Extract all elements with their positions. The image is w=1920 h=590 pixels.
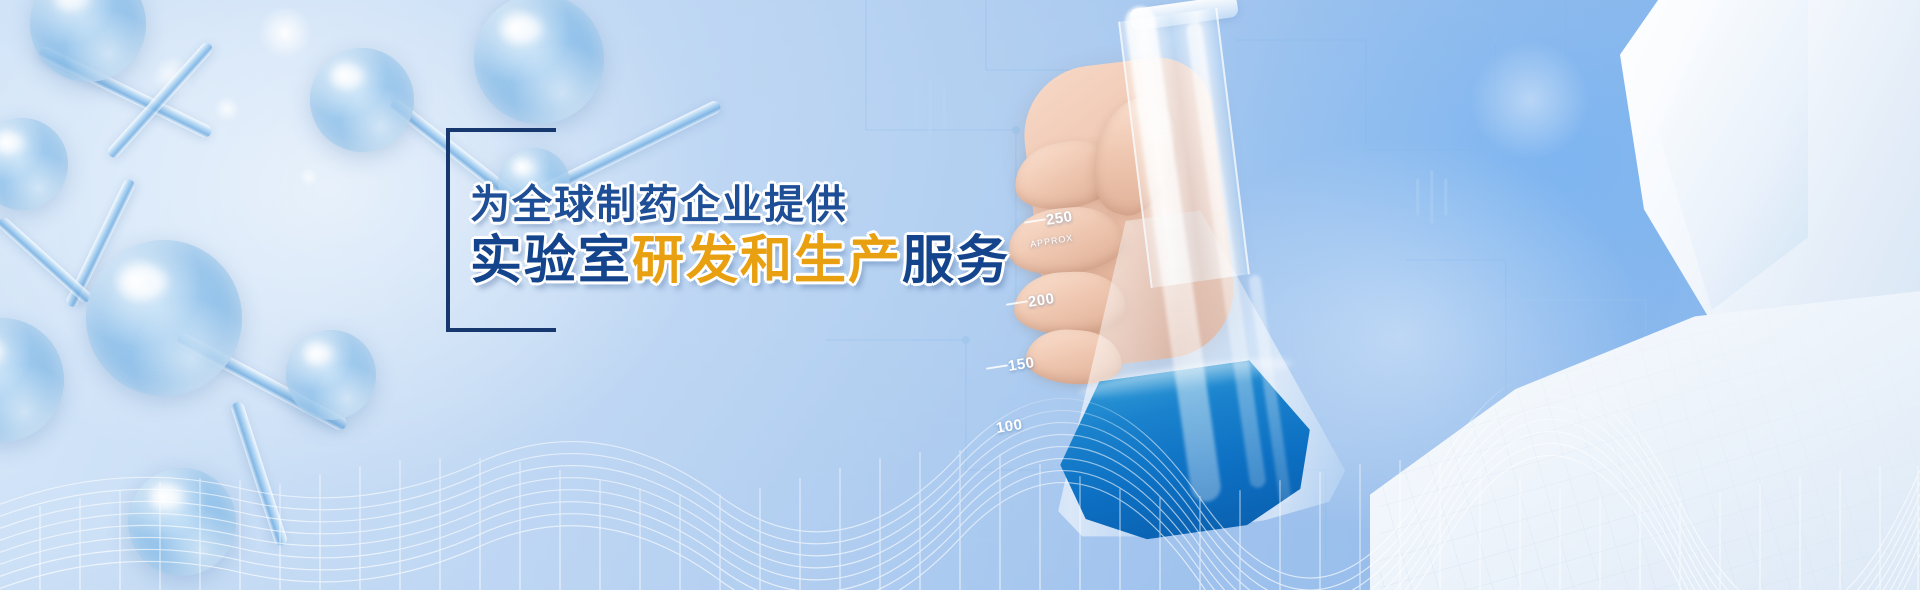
- flask-graduation-tick: [986, 364, 1008, 369]
- flask-graduation-250: 250: [1044, 208, 1073, 229]
- hero-banner: 为全球制药企业提供 实验室研发和生产服务: [0, 0, 1920, 590]
- headline-segment-service: 服务: [902, 232, 1010, 290]
- flask-graduation-approx: APPROX: [1029, 233, 1074, 250]
- flask-graduation-tick: [1024, 218, 1046, 223]
- headline-segment-rnd: 研发和生产: [632, 232, 902, 290]
- flask-graduation-tick: [1006, 300, 1028, 305]
- flask-graduation-150: 150: [1006, 354, 1035, 375]
- headline-line-2: 实验室研发和生产服务: [470, 233, 1010, 289]
- headline-segment-lab: 实验室: [470, 232, 632, 290]
- flask-graduation-200: 200: [1026, 290, 1055, 311]
- wireframe-wave-decor: [0, 378, 1920, 590]
- headline-line-1: 为全球制药企业提供: [470, 184, 1010, 227]
- headline-block: 为全球制药企业提供 实验室研发和生产服务: [470, 184, 1010, 289]
